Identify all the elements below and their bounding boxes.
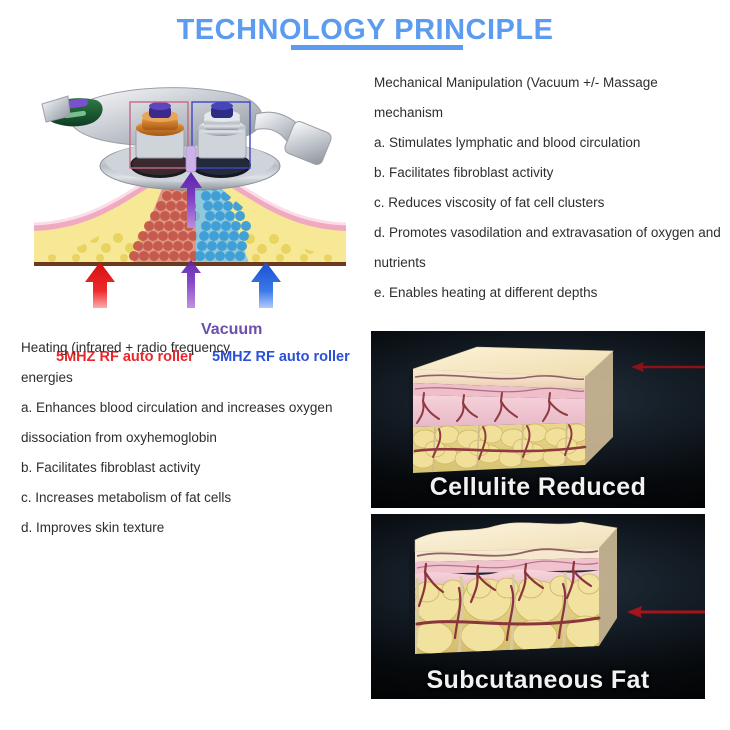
title-underline — [291, 45, 463, 50]
text-line: energies — [21, 363, 366, 393]
mechanical-manipulation-text-block: Mechanical Manipulation (Vacuum +/- Mass… — [374, 68, 726, 308]
panel-cellulite-reduced: Cellulite Reduced — [371, 331, 705, 508]
text-line: e. Enables heating at different depths — [374, 278, 726, 308]
panel-subcutaneous-fat: Subcutaneous Fat — [371, 514, 705, 699]
pointer-arrow-left — [627, 357, 705, 377]
heating-text-block: Heating (infrared + radio frequency ener… — [21, 333, 366, 543]
text-line: c. Increases metabolism of fat cells — [21, 483, 366, 513]
skin-block-diagram-cellulite-reduced — [399, 341, 621, 481]
rf-arrow-right-blue — [251, 262, 281, 308]
text-line: Heating (infrared + radio frequency — [21, 333, 366, 363]
skin-block-diagram-subcutaneous-fat — [403, 518, 625, 658]
text-line: d. Promotes vasodilation and extravasati… — [374, 218, 726, 248]
text-line: mechanism — [374, 98, 726, 128]
handpiece-body — [42, 88, 333, 190]
vacuum-arrow-lower — [181, 260, 201, 308]
text-line: nutrients — [374, 248, 726, 278]
text-line: b. Facilitates fibroblast activity — [374, 158, 726, 188]
pointer-arrow-left — [623, 602, 705, 622]
text-line: dissociation from oxyhemoglobin — [21, 423, 366, 453]
vacuum-rf-handpiece-svg — [20, 68, 360, 308]
device-illustration: Vacuum 5MHZ RF auto roller 5MHZ RF auto … — [20, 68, 360, 308]
panel-caption-cellulite-reduced: Cellulite Reduced — [371, 473, 705, 502]
text-line: Mechanical Manipulation (Vacuum +/- Mass… — [374, 68, 726, 98]
text-line: a. Enhances blood circulation and increa… — [21, 393, 366, 423]
text-line: c. Reduces viscosity of fat cell cluster… — [374, 188, 726, 218]
page-title: TECHNOLOGY PRINCIPLE — [0, 14, 730, 47]
text-line: b. Facilitates fibroblast activity — [21, 453, 366, 483]
rf-arrow-left-red — [85, 262, 115, 308]
text-line: a. Stimulates lymphatic and blood circul… — [374, 128, 726, 158]
text-line: d. Improves skin texture — [21, 513, 366, 543]
panel-caption-subcutaneous-fat: Subcutaneous Fat — [371, 666, 705, 695]
